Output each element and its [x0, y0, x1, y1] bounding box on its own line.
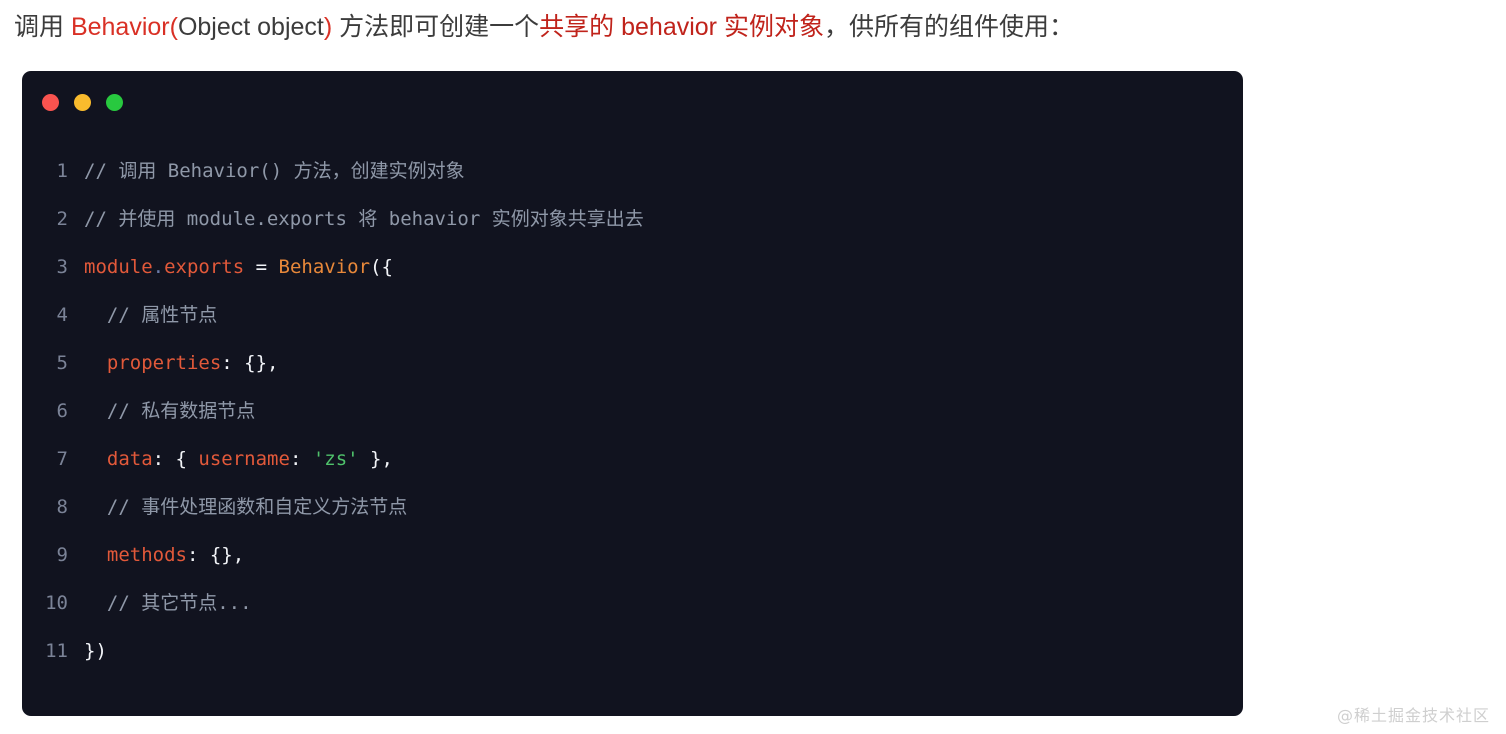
code-line: 4 // 属性节点: [22, 291, 1243, 339]
page-title: 调用 Behavior(Object object) 方法即可创建一个共享的 b…: [14, 7, 1494, 47]
code-line-source: // 调用 Behavior() 方法，创建实例对象: [84, 147, 465, 195]
code-line: 8 // 事件处理函数和自定义方法节点: [22, 483, 1243, 531]
line-number: 5: [22, 339, 84, 387]
code-line: 7 data: { username: 'zs' },: [22, 435, 1243, 483]
code-token-prop: properties: [107, 352, 221, 374]
code-line: 5 properties: {},: [22, 339, 1243, 387]
line-number: 3: [22, 243, 84, 291]
code-token-comment: // 私有数据节点: [84, 400, 255, 422]
code-line-source: // 其它节点...: [84, 579, 252, 627]
code-token-comment: // 属性节点: [84, 304, 217, 326]
code-line: 2// 并使用 module.exports 将 behavior 实例对象共享…: [22, 195, 1243, 243]
code-token-fn: Behavior: [279, 256, 371, 278]
line-number: 6: [22, 387, 84, 435]
code-line: 6 // 私有数据节点: [22, 387, 1243, 435]
line-number: 10: [22, 579, 84, 627]
code-line-source: // 私有数据节点: [84, 387, 255, 435]
line-number: 4: [22, 291, 84, 339]
heading-api-close-paren: ): [324, 13, 332, 41]
code-token-punct: }): [84, 640, 107, 662]
heading-segment-5: 方法即可创建一个: [332, 13, 539, 41]
code-window-titlebar: [22, 71, 1243, 133]
code-token-comment: // 事件处理函数和自定义方法节点: [84, 496, 407, 518]
code-token-punct: [84, 448, 107, 470]
code-line-source: // 并使用 module.exports 将 behavior 实例对象共享出…: [84, 195, 644, 243]
heading-segment-1: 调用: [14, 13, 71, 41]
line-number: 11: [22, 627, 84, 675]
code-line-source: }): [84, 627, 107, 675]
code-window: 1// 调用 Behavior() 方法，创建实例对象2// 并使用 modul…: [22, 71, 1243, 716]
maximize-dot-icon[interactable]: [106, 94, 123, 111]
heading-segment-7: ，供所有的组件使用：: [824, 13, 1074, 41]
line-number: 1: [22, 147, 84, 195]
code-token-punct: [84, 352, 107, 374]
code-token-op: =: [244, 256, 278, 278]
code-token-prop: exports: [164, 256, 244, 278]
code-token-prop: data: [107, 448, 153, 470]
code-line: 3module.exports = Behavior({: [22, 243, 1243, 291]
code-token-str: 'zs': [313, 448, 359, 470]
code-token-punct: : {},: [221, 352, 278, 374]
heading-emphasis: 共享的 behavior 实例对象: [539, 13, 824, 41]
code-token-punct: :: [290, 448, 313, 470]
code-token-punct: : {: [153, 448, 199, 470]
heading-api-param: Object object: [178, 13, 324, 41]
line-number: 8: [22, 483, 84, 531]
code-line: 10 // 其它节点...: [22, 579, 1243, 627]
close-dot-icon[interactable]: [42, 94, 59, 111]
code-token-comment: // 并使用 module.exports 将 behavior 实例对象共享出…: [84, 208, 644, 230]
code-token-punct: [84, 544, 107, 566]
heading-api-name: Behavior(: [71, 13, 178, 41]
line-number: 9: [22, 531, 84, 579]
code-editor-body[interactable]: 1// 调用 Behavior() 方法，创建实例对象2// 并使用 modul…: [22, 133, 1243, 675]
code-token-comment: // 其它节点...: [84, 592, 252, 614]
code-token-prop: methods: [107, 544, 187, 566]
minimize-dot-icon[interactable]: [74, 94, 91, 111]
line-number: 2: [22, 195, 84, 243]
code-token-comment: // 调用 Behavior() 方法，创建实例对象: [84, 160, 465, 182]
code-line: 9 methods: {},: [22, 531, 1243, 579]
code-line-source: module.exports = Behavior({: [84, 243, 393, 291]
code-line-source: methods: {},: [84, 531, 244, 579]
code-line-source: properties: {},: [84, 339, 278, 387]
code-line: 1// 调用 Behavior() 方法，创建实例对象: [22, 147, 1243, 195]
code-line-source: // 事件处理函数和自定义方法节点: [84, 483, 407, 531]
code-line-source: data: { username: 'zs' },: [84, 435, 393, 483]
code-token-prop: module: [84, 256, 153, 278]
watermark: @稀土掘金技术社区: [1337, 702, 1490, 726]
code-token-dot: .: [153, 256, 164, 278]
code-token-punct: : {},: [187, 544, 244, 566]
code-token-punct: },: [359, 448, 393, 470]
code-token-prop: username: [198, 448, 290, 470]
code-line: 11}): [22, 627, 1243, 675]
code-line-source: // 属性节点: [84, 291, 217, 339]
code-token-punct: ({: [370, 256, 393, 278]
line-number: 7: [22, 435, 84, 483]
